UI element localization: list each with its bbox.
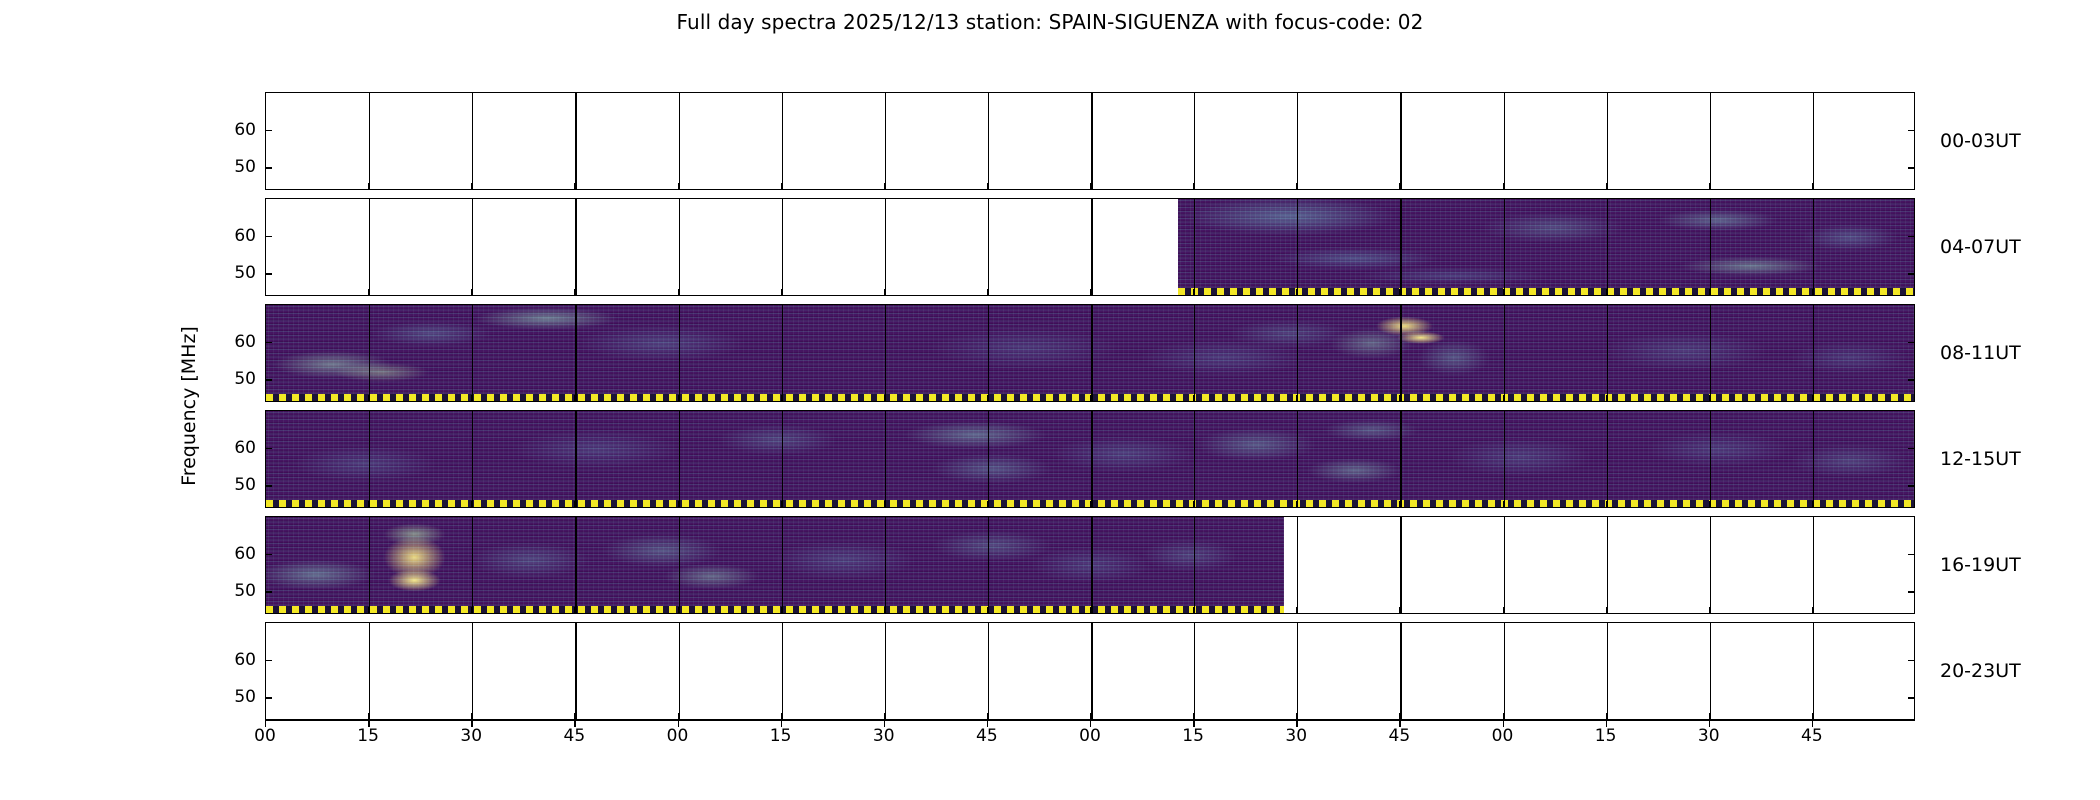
x-tick-mark xyxy=(884,607,885,614)
spectrogram-row-08-11ut[interactable]: 5060 xyxy=(265,304,1915,402)
y-tick-mark xyxy=(1908,591,1915,592)
x-tick-mark xyxy=(781,501,782,508)
x-tick-mark xyxy=(1812,395,1813,402)
x-axis-tick-mark xyxy=(1193,720,1194,727)
row-plot-area[interactable] xyxy=(265,304,1915,402)
subpanel-divider xyxy=(1091,93,1093,189)
subpanel-divider xyxy=(1400,411,1401,507)
subpanel-divider xyxy=(1813,411,1814,507)
x-tick-mark xyxy=(987,607,988,614)
subpanel-divider xyxy=(988,305,989,401)
spectrogram-row-16-19ut[interactable]: 5060 xyxy=(265,516,1915,614)
y-tick-mark xyxy=(265,554,272,555)
y-tick-label: 50 xyxy=(234,263,256,283)
x-axis-tick-label: 00 xyxy=(667,726,689,746)
x-tick-mark xyxy=(368,395,369,402)
x-tick-mark xyxy=(1606,289,1607,296)
x-axis-tick-label: 30 xyxy=(1285,726,1307,746)
x-tick-mark xyxy=(1709,395,1710,402)
x-tick-mark xyxy=(678,289,679,296)
subpanel-divider xyxy=(782,93,783,189)
x-axis-tick-label: 45 xyxy=(1801,726,1823,746)
subpanel-divider xyxy=(1400,199,1401,295)
subpanel-divider xyxy=(988,517,989,613)
subpanel-divider xyxy=(988,199,989,295)
x-tick-mark xyxy=(987,501,988,508)
subpanel-divider xyxy=(1400,623,1401,719)
subpanel-divider xyxy=(679,199,681,295)
subpanel-divider xyxy=(1813,623,1814,719)
subpanel-divider xyxy=(472,199,473,295)
x-tick-mark xyxy=(1399,289,1400,296)
subpanel-divider xyxy=(1813,199,1814,295)
x-tick-mark xyxy=(1193,713,1194,720)
x-axis-tick-mark xyxy=(781,720,782,727)
subpanel-divider xyxy=(1194,623,1195,719)
x-tick-mark xyxy=(1399,183,1400,190)
x-tick-mark xyxy=(574,289,575,296)
x-axis-tick-label: 45 xyxy=(1389,726,1411,746)
subpanel-divider xyxy=(1607,623,1608,719)
x-axis-tick-mark xyxy=(678,720,679,727)
x-tick-mark xyxy=(574,183,575,190)
row-label-04-07ut: 04-07UT xyxy=(1940,236,2021,258)
figure-title: Full day spectra 2025/12/13 station: SPA… xyxy=(0,10,2100,34)
subpanel-divider xyxy=(988,623,989,719)
subpanel-divider xyxy=(1813,305,1814,401)
y-tick-label: 50 xyxy=(234,581,256,601)
subpanel-divider xyxy=(782,199,783,295)
subpanel-divider xyxy=(575,93,576,189)
y-tick-mark xyxy=(265,167,272,168)
subpanel-divider xyxy=(1607,517,1608,613)
status-strip xyxy=(1178,288,1915,295)
x-axis-tick-label: 45 xyxy=(976,726,998,746)
spectrogram-image xyxy=(1178,199,1915,295)
x-tick-mark xyxy=(987,395,988,402)
subpanel-divider xyxy=(1400,93,1401,189)
x-axis-tick-mark xyxy=(1606,720,1607,727)
x-axis-tick-label: 15 xyxy=(1595,726,1617,746)
y-tick-mark xyxy=(1908,485,1915,486)
y-axis-label: Frequency [MHz] xyxy=(176,92,202,720)
subpanel-divider xyxy=(782,305,783,401)
y-tick-label: 60 xyxy=(234,544,256,564)
subpanel-divider xyxy=(782,517,783,613)
x-tick-mark xyxy=(884,713,885,720)
row-label-12-15ut: 12-15UT xyxy=(1940,448,2021,470)
y-tick-mark xyxy=(1908,273,1915,274)
x-axis-tick-mark xyxy=(574,720,575,727)
y-tick-mark xyxy=(265,342,272,343)
subpanel-divider xyxy=(885,93,886,189)
subpanel-divider xyxy=(369,305,370,401)
y-tick-mark xyxy=(1908,554,1915,555)
subpanel-divider xyxy=(782,411,783,507)
subpanel-divider xyxy=(1297,411,1298,507)
x-tick-mark xyxy=(1296,183,1297,190)
subpanel-divider xyxy=(1710,623,1711,719)
y-tick-label: 60 xyxy=(234,120,256,140)
y-tick-mark xyxy=(1908,379,1915,380)
x-tick-mark xyxy=(471,607,472,614)
x-axis-tick-mark xyxy=(987,720,988,727)
subpanel-divider xyxy=(1194,199,1195,295)
subpanel-divider xyxy=(1194,305,1195,401)
subpanel-divider xyxy=(885,305,886,401)
x-tick-mark xyxy=(1503,501,1504,508)
x-tick-mark xyxy=(471,395,472,402)
subpanel-divider xyxy=(1297,623,1298,719)
x-tick-mark xyxy=(1193,501,1194,508)
x-axis-tick-label: 15 xyxy=(770,726,792,746)
x-tick-mark xyxy=(1812,713,1813,720)
row-plot-area[interactable] xyxy=(265,516,1915,614)
row-label-00-03ut: 00-03UT xyxy=(1940,130,2021,152)
x-tick-mark xyxy=(1606,713,1607,720)
subpanel-divider xyxy=(472,517,473,613)
subpanel-divider xyxy=(1297,199,1298,295)
x-tick-mark xyxy=(1709,607,1710,614)
x-tick-mark xyxy=(1812,289,1813,296)
x-axis-tick-labels: 00153045001530450015304500153045 xyxy=(265,726,1915,756)
x-tick-mark xyxy=(574,607,575,614)
x-tick-mark xyxy=(1399,607,1400,614)
spectrogram-row-12-15ut[interactable]: 5060 xyxy=(265,410,1915,508)
y-tick-label: 60 xyxy=(234,438,256,458)
x-axis-tick-mark xyxy=(1090,720,1091,727)
x-tick-mark xyxy=(1812,501,1813,508)
x-tick-mark xyxy=(884,501,885,508)
y-tick-mark xyxy=(265,236,272,237)
x-axis-tick-mark xyxy=(884,720,885,727)
subpanel-divider xyxy=(782,623,783,719)
x-tick-mark xyxy=(781,713,782,720)
x-tick-mark xyxy=(781,289,782,296)
x-tick-mark xyxy=(1090,713,1091,720)
y-tick-mark xyxy=(1908,167,1915,168)
y-tick-label: 50 xyxy=(234,157,256,177)
y-tick-mark xyxy=(265,448,272,449)
subpanel-divider xyxy=(1194,93,1195,189)
y-tick-mark xyxy=(265,485,272,486)
x-tick-mark xyxy=(884,395,885,402)
y-tick-label: 50 xyxy=(234,369,256,389)
x-tick-mark xyxy=(368,183,369,190)
x-tick-mark xyxy=(1090,395,1091,402)
subpanel-divider xyxy=(369,93,370,189)
x-axis-tick-mark xyxy=(1399,720,1400,727)
y-tick-mark xyxy=(265,660,272,661)
x-tick-mark xyxy=(678,501,679,508)
subpanel-divider xyxy=(1504,623,1506,719)
subpanel-divider xyxy=(1607,411,1608,507)
y-tick-mark xyxy=(1908,130,1915,131)
subpanel-divider xyxy=(1297,305,1298,401)
y-tick-mark xyxy=(1908,697,1915,698)
subpanel-divider xyxy=(679,305,681,401)
subpanel-divider xyxy=(1504,305,1506,401)
x-axis-tick-label: 00 xyxy=(254,726,276,746)
x-tick-mark xyxy=(1812,607,1813,614)
row-label-16-19ut: 16-19UT xyxy=(1940,554,2021,576)
x-tick-mark xyxy=(1503,713,1504,720)
x-tick-mark xyxy=(1709,289,1710,296)
subpanel-divider xyxy=(575,411,576,507)
row-plot-area[interactable] xyxy=(265,410,1915,508)
x-tick-mark xyxy=(1503,395,1504,402)
y-tick-label: 60 xyxy=(234,650,256,670)
subpanel-divider xyxy=(1710,305,1711,401)
x-tick-mark xyxy=(471,289,472,296)
x-tick-mark xyxy=(1090,289,1091,296)
x-tick-mark xyxy=(1296,607,1297,614)
subpanel-divider xyxy=(1607,93,1608,189)
x-tick-mark xyxy=(1296,713,1297,720)
subpanel-divider xyxy=(1710,517,1711,613)
subpanel-divider xyxy=(1194,517,1195,613)
row-plot-area[interactable] xyxy=(265,92,1915,190)
x-tick-mark xyxy=(1606,501,1607,508)
spectrogram-row-00-03ut[interactable]: 5060 xyxy=(265,92,1915,190)
x-axis-tick-mark xyxy=(1709,720,1710,727)
subpanel-divider xyxy=(472,305,473,401)
subpanel-divider xyxy=(1091,199,1093,295)
x-tick-mark xyxy=(678,607,679,614)
x-tick-mark xyxy=(781,395,782,402)
x-axis-tick-label: 45 xyxy=(564,726,586,746)
subpanel-divider xyxy=(679,517,681,613)
subpanel-divider xyxy=(679,411,681,507)
y-tick-label: 60 xyxy=(234,332,256,352)
subpanel-divider xyxy=(1504,411,1506,507)
subpanel-divider xyxy=(472,623,473,719)
x-tick-mark xyxy=(368,607,369,614)
subpanel-divider xyxy=(988,411,989,507)
x-axis-tick-label: 30 xyxy=(460,726,482,746)
row-label-08-11ut: 08-11UT xyxy=(1940,342,2021,364)
spectrogram-row-20-23ut[interactable]: 5060 xyxy=(265,622,1915,720)
x-tick-mark xyxy=(1503,183,1504,190)
subpanel-divider xyxy=(1091,623,1093,719)
x-tick-mark xyxy=(471,713,472,720)
y-tick-label: 60 xyxy=(234,226,256,246)
y-tick-mark xyxy=(265,130,272,131)
x-tick-mark xyxy=(1296,289,1297,296)
x-tick-mark xyxy=(1090,501,1091,508)
x-tick-mark xyxy=(1399,395,1400,402)
subpanel-divider xyxy=(1504,93,1506,189)
x-axis-tick-mark xyxy=(1503,720,1504,727)
x-tick-mark xyxy=(1090,183,1091,190)
x-axis-tick-mark xyxy=(1812,720,1813,727)
subpanel-divider xyxy=(1400,517,1401,613)
x-tick-mark xyxy=(1503,607,1504,614)
x-tick-mark xyxy=(1812,183,1813,190)
x-tick-mark xyxy=(1503,289,1504,296)
vertical-column-texture xyxy=(266,517,1284,613)
x-tick-mark xyxy=(1606,395,1607,402)
x-axis-tick-mark xyxy=(368,720,369,727)
x-tick-mark xyxy=(1709,713,1710,720)
subpanel-divider xyxy=(1400,305,1401,401)
y-tick-mark xyxy=(265,591,272,592)
x-tick-mark xyxy=(1193,289,1194,296)
subpanel-divider xyxy=(885,199,886,295)
x-axis-tick-mark xyxy=(265,720,266,727)
x-tick-mark xyxy=(781,183,782,190)
x-tick-mark xyxy=(987,713,988,720)
y-tick-mark xyxy=(1908,236,1915,237)
x-tick-mark xyxy=(781,607,782,614)
x-tick-mark xyxy=(1090,607,1091,614)
y-tick-label: 50 xyxy=(234,475,256,495)
x-tick-mark xyxy=(1193,183,1194,190)
x-tick-mark xyxy=(678,713,679,720)
subpanel-divider xyxy=(575,199,576,295)
subpanel-divider xyxy=(885,623,886,719)
subpanel-divider xyxy=(1710,199,1711,295)
row-label-20-23ut: 20-23UT xyxy=(1940,660,2021,682)
subpanel-divider xyxy=(369,517,370,613)
subpanel-divider xyxy=(1504,517,1506,613)
subpanel-divider xyxy=(1813,517,1814,613)
subpanel-divider xyxy=(575,623,576,719)
subpanel-divider xyxy=(885,411,886,507)
subpanel-divider xyxy=(575,517,576,613)
subpanel-divider xyxy=(369,623,370,719)
subpanel-divider xyxy=(988,93,989,189)
subpanel-divider xyxy=(1091,517,1093,613)
x-tick-mark xyxy=(678,183,679,190)
x-tick-mark xyxy=(884,183,885,190)
spectrogram-figure: Full day spectra 2025/12/13 station: SPA… xyxy=(0,0,2100,800)
x-tick-mark xyxy=(1709,501,1710,508)
spectrogram-row-04-07ut[interactable]: 5060 xyxy=(265,198,1915,296)
x-tick-mark xyxy=(884,289,885,296)
y-tick-mark xyxy=(1908,660,1915,661)
x-axis-tick-mark xyxy=(1296,720,1297,727)
x-axis-tick-label: 00 xyxy=(1492,726,1514,746)
row-plot-area[interactable] xyxy=(265,622,1915,720)
x-tick-mark xyxy=(1193,607,1194,614)
x-tick-mark xyxy=(987,289,988,296)
y-tick-mark xyxy=(1908,342,1915,343)
x-tick-mark xyxy=(574,713,575,720)
subpanel-divider xyxy=(1710,93,1711,189)
status-strip xyxy=(266,606,1284,613)
row-plot-area[interactable] xyxy=(265,198,1915,296)
x-tick-mark xyxy=(987,183,988,190)
x-axis-tick-label: 15 xyxy=(357,726,379,746)
y-axis-label-text: Frequency [MHz] xyxy=(178,326,200,486)
x-axis-tick-label: 30 xyxy=(873,726,895,746)
vertical-column-texture xyxy=(1178,199,1915,295)
subpanel-divider xyxy=(1607,199,1608,295)
subpanel-divider xyxy=(369,199,370,295)
subpanel-divider xyxy=(1813,93,1814,189)
x-tick-mark xyxy=(1606,607,1607,614)
subpanel-divider xyxy=(1194,411,1195,507)
subpanel-divider xyxy=(1504,199,1506,295)
subpanel-divider xyxy=(679,93,681,189)
x-tick-mark xyxy=(1709,183,1710,190)
x-axis-tick-label: 30 xyxy=(1698,726,1720,746)
subpanel-divider xyxy=(472,411,473,507)
subpanel-divider xyxy=(1710,411,1711,507)
x-tick-mark xyxy=(1399,713,1400,720)
x-tick-mark xyxy=(1606,183,1607,190)
x-tick-mark xyxy=(368,713,369,720)
x-tick-mark xyxy=(1193,395,1194,402)
subpanel-divider xyxy=(369,411,370,507)
x-tick-mark xyxy=(1296,395,1297,402)
spectrogram-image xyxy=(266,517,1284,613)
y-tick-mark xyxy=(265,697,272,698)
x-tick-mark xyxy=(1399,501,1400,508)
subpanel-divider xyxy=(575,305,576,401)
subpanel-divider xyxy=(1091,411,1093,507)
x-tick-mark xyxy=(1296,501,1297,508)
y-tick-mark xyxy=(265,273,272,274)
subpanel-divider xyxy=(1297,517,1298,613)
x-tick-mark xyxy=(368,501,369,508)
x-tick-mark xyxy=(574,395,575,402)
x-axis-tick-mark xyxy=(471,720,472,727)
subpanel-divider xyxy=(1297,93,1298,189)
x-tick-mark xyxy=(574,501,575,508)
x-tick-mark xyxy=(368,289,369,296)
x-axis-tick-label: 15 xyxy=(1182,726,1204,746)
x-tick-mark xyxy=(678,395,679,402)
subpanel-divider xyxy=(472,93,473,189)
subpanel-divider xyxy=(1607,305,1608,401)
x-tick-mark xyxy=(471,183,472,190)
axes-stack: 506050605060506050605060 xyxy=(265,92,1915,720)
subpanel-divider xyxy=(885,517,886,613)
subpanel-divider xyxy=(679,623,681,719)
x-axis-tick-label: 00 xyxy=(1079,726,1101,746)
y-tick-mark xyxy=(265,379,272,380)
x-tick-mark xyxy=(471,501,472,508)
y-tick-mark xyxy=(1908,448,1915,449)
subpanel-divider xyxy=(1091,305,1093,401)
y-tick-label: 50 xyxy=(234,687,256,707)
